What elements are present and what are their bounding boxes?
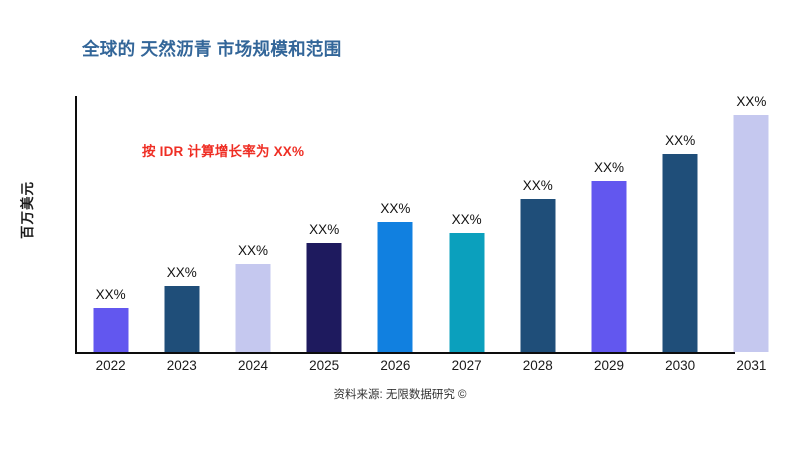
bar-value-label: XX% <box>523 178 553 193</box>
x-tick-label: 2030 <box>645 358 716 373</box>
bar-slot: XX% <box>217 96 288 352</box>
x-tick-label: 2024 <box>217 358 288 373</box>
bar[interactable] <box>520 199 555 352</box>
bar[interactable] <box>378 222 413 352</box>
bar[interactable] <box>591 181 626 352</box>
bar-value-label: XX% <box>665 133 695 148</box>
bars-layer: XX%XX%XX%XX%XX%XX%XX%XX%XX%XX% <box>75 96 787 352</box>
bar-slot: XX% <box>573 96 644 352</box>
x-tick-label: 2026 <box>360 358 431 373</box>
bar[interactable] <box>734 115 769 352</box>
bar[interactable] <box>307 243 342 352</box>
bar-value-label: XX% <box>309 222 339 237</box>
bar[interactable] <box>164 286 199 352</box>
x-axis-tick-labels: 2022202320242025202620272028202920302031 <box>75 358 787 380</box>
y-axis-label-wrapper: 百万美元 <box>14 155 38 265</box>
bar[interactable] <box>93 308 128 352</box>
bar-slot: XX% <box>146 96 217 352</box>
bar-slot: XX% <box>360 96 431 352</box>
bar-value-label: XX% <box>238 243 268 258</box>
bar-slot: XX% <box>645 96 716 352</box>
bar-value-label: XX% <box>167 265 197 280</box>
bar-value-label: XX% <box>380 201 410 216</box>
x-tick-label: 2029 <box>573 358 644 373</box>
x-tick-label: 2028 <box>502 358 573 373</box>
plot-area: 按 IDR 计算增长率为 XX% XX%XX%XX%XX%XX%XX%XX%XX… <box>75 96 787 354</box>
x-axis-line <box>75 352 735 354</box>
bar-slot: XX% <box>716 96 787 352</box>
x-tick-label: 2027 <box>431 358 502 373</box>
bar-value-label: XX% <box>736 94 766 109</box>
bar[interactable] <box>663 154 698 352</box>
source-footer: 资料来源: 无限数据研究 © <box>0 386 800 402</box>
bar[interactable] <box>235 264 270 352</box>
chart-container: 全球的 天然沥青 市场规模和范围 百万美元 按 IDR 计算增长率为 XX% X… <box>0 0 800 450</box>
bar-value-label: XX% <box>452 212 482 227</box>
x-tick-label: 2022 <box>75 358 146 373</box>
x-tick-label: 2025 <box>289 358 360 373</box>
bar[interactable] <box>449 233 484 352</box>
x-tick-label: 2031 <box>716 358 787 373</box>
y-axis-label: 百万美元 <box>16 181 36 239</box>
bar-value-label: XX% <box>96 287 126 302</box>
bar-slot: XX% <box>502 96 573 352</box>
bar-slot: XX% <box>289 96 360 352</box>
chart-title: 全球的 天然沥青 市场规模和范围 <box>82 36 342 61</box>
x-tick-label: 2023 <box>146 358 217 373</box>
bar-slot: XX% <box>431 96 502 352</box>
bar-slot: XX% <box>75 96 146 352</box>
bar-value-label: XX% <box>594 160 624 175</box>
